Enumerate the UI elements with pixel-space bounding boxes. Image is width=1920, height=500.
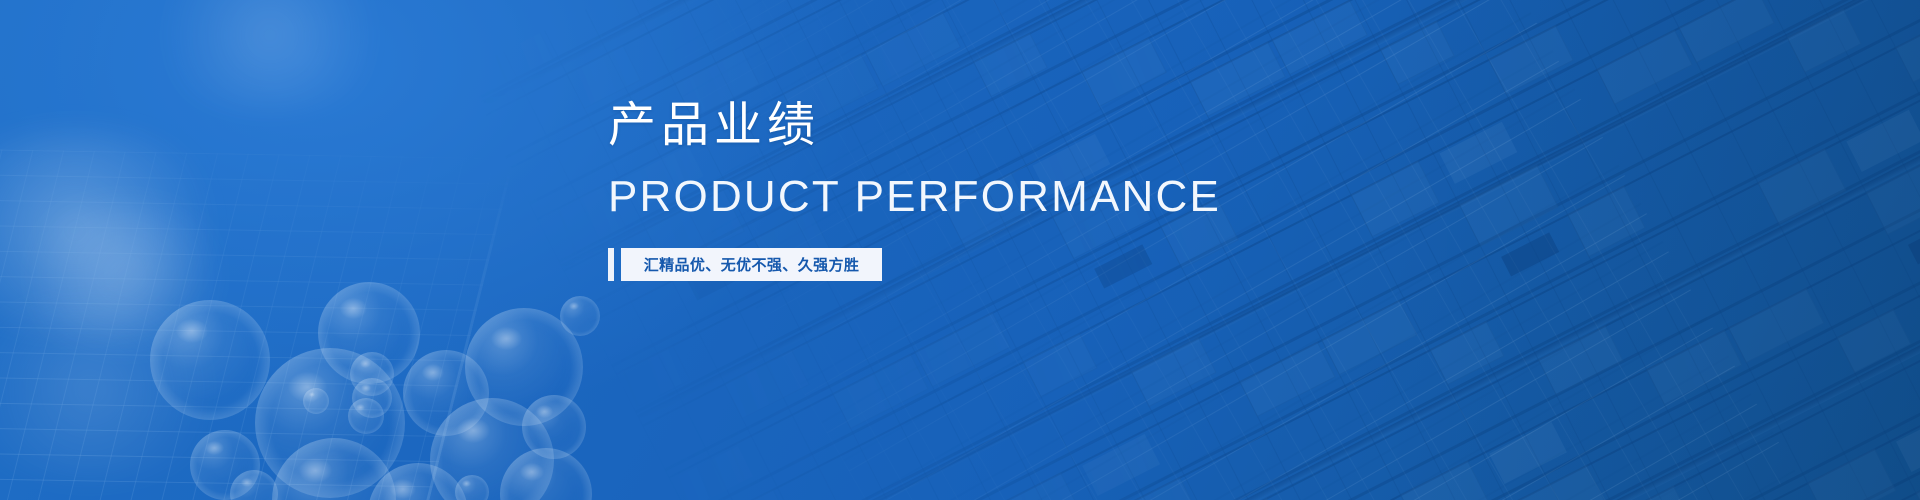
- glass-tower-corner: [0, 148, 515, 500]
- bubble: [150, 300, 270, 420]
- tagline-text: 汇精品优、无优不强、久强方胜: [644, 254, 860, 275]
- bubble: [465, 308, 583, 426]
- tagline-box: 汇精品优、无优不强、久强方胜: [621, 248, 882, 281]
- bubble: [500, 448, 592, 500]
- bubble: [522, 395, 586, 459]
- bubble: [348, 398, 384, 434]
- bubble: [272, 438, 396, 500]
- bubble: [303, 388, 329, 414]
- bubble: [350, 352, 394, 396]
- tagline: 汇精品优、无优不强、久强方胜: [608, 248, 882, 281]
- page-title: 产品业绩: [608, 96, 1368, 156]
- cloud-haze: [0, 130, 240, 330]
- bubble: [352, 378, 392, 418]
- tagline-spacer: [614, 248, 621, 281]
- bubble: [430, 398, 554, 500]
- banner-content: 产品业绩 PRODUCT PERFORMANCE 汇精品优、无优不强、久强方胜: [608, 96, 1368, 281]
- bubble: [190, 430, 260, 500]
- page-subtitle: PRODUCT PERFORMANCE: [608, 172, 1368, 223]
- cloud-haze: [10, 205, 240, 345]
- bubble: [230, 470, 278, 500]
- tower-edge-highlight: [362, 158, 515, 500]
- cloud-haze: [140, 0, 400, 110]
- cloud-haze: [0, 300, 240, 480]
- bubble: [318, 282, 420, 384]
- bubble: [403, 350, 489, 436]
- bubble: [255, 348, 405, 498]
- bubble: [368, 463, 468, 500]
- product-performance-banner: 产品业绩 PRODUCT PERFORMANCE 汇精品优、无优不强、久强方胜: [0, 0, 1920, 500]
- bubble: [455, 475, 489, 500]
- bubble: [560, 296, 600, 336]
